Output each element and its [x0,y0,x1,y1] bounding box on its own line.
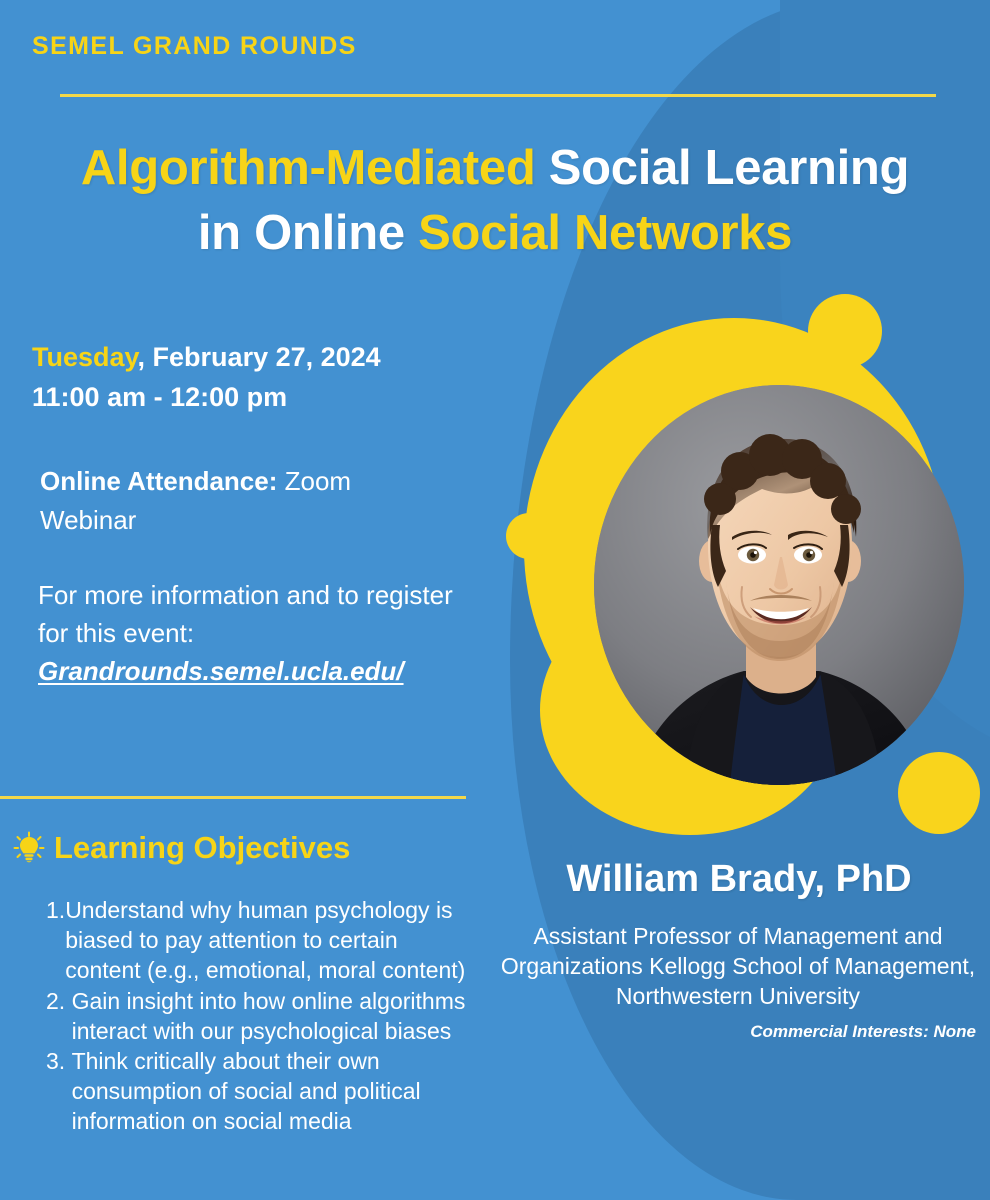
registration-intro: For more information and to register for… [38,580,453,648]
event-time: 11:00 am - 12:00 pm [32,382,287,412]
list-item-text: Think critically about their own consump… [72,1047,471,1137]
list-item: 2. Gain insight into how online algorith… [46,987,471,1047]
speaker-photo [594,385,964,785]
event-flyer: SEMEL GRAND ROUNDS Algorithm-Mediated So… [0,0,990,1200]
yellow-dot-top [808,294,882,368]
title-part-1: Algorithm-Mediated [81,141,549,195]
list-item-number: 1. [46,896,65,986]
list-item: 3. Think critically about their own cons… [46,1047,471,1137]
event-date: , February 27, 2024 [138,342,381,372]
list-item-text: Understand why human psychology is biase… [65,896,471,986]
event-day: Tuesday [32,342,138,372]
learning-objectives-heading: Learning Objectives [12,830,350,866]
learning-objectives-list: 1. Understand why human psychology is bi… [46,896,471,1138]
headshot-illustration [594,385,964,785]
list-item-number: 2. [46,987,72,1047]
registration-link[interactable]: Grandrounds.semel.ucla.edu/ [38,652,404,690]
list-item-number: 3. [46,1047,72,1137]
registration-block: For more information and to register for… [38,576,468,691]
title-part-4: Social Networks [418,206,792,260]
learning-objectives-title: Learning Objectives [54,830,350,866]
event-attendance: Online Attendance: Zoom Webinar [40,462,440,540]
speaker-name: William Brady, PhD [500,858,978,901]
yellow-dot-bottom [898,752,980,834]
list-item-text: Gain insight into how online algorithms … [72,987,471,1047]
speaker-affiliation: Assistant Professor of Management and Or… [498,922,978,1012]
yellow-dot-left [506,513,552,559]
divider-top [60,94,936,97]
title-part-3: in Online [198,206,418,260]
event-datetime: Tuesday, February 27, 2024 11:00 am - 12… [32,338,462,418]
list-item: 1. Understand why human psychology is bi… [46,896,471,986]
title-part-2: Social Learning [549,141,909,195]
lightbulb-icon [12,831,46,865]
divider-middle [0,796,466,799]
commercial-interests: Commercial Interests: None [498,1022,976,1042]
page-kicker: SEMEL GRAND ROUNDS [32,32,357,61]
attendance-label: Online Attendance: [40,466,277,496]
page-title: Algorithm-Mediated Social Learning in On… [30,136,960,265]
